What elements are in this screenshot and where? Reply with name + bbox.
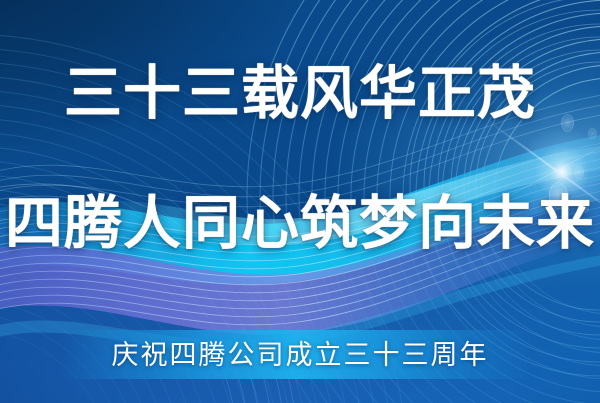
anniversary-banner: 三十三载风华正茂 四腾人同心筑梦向未来 庆祝四腾公司成立三十三周年 [0, 0, 600, 403]
headline-line-2-row: 四腾人同心筑梦向未来 [0, 192, 600, 256]
bokeh-circle-edge-icon [588, 128, 597, 139]
headline-line-1: 三十三载风华正茂 [64, 61, 536, 126]
subtitle-text: 庆祝四腾公司成立三十三周年 [0, 336, 600, 374]
bokeh-circle-small-icon [574, 166, 584, 179]
headline-line-1-row: 三十三载风华正茂 [0, 62, 600, 126]
headline-line-2: 四腾人同心筑梦向未来 [5, 191, 595, 256]
